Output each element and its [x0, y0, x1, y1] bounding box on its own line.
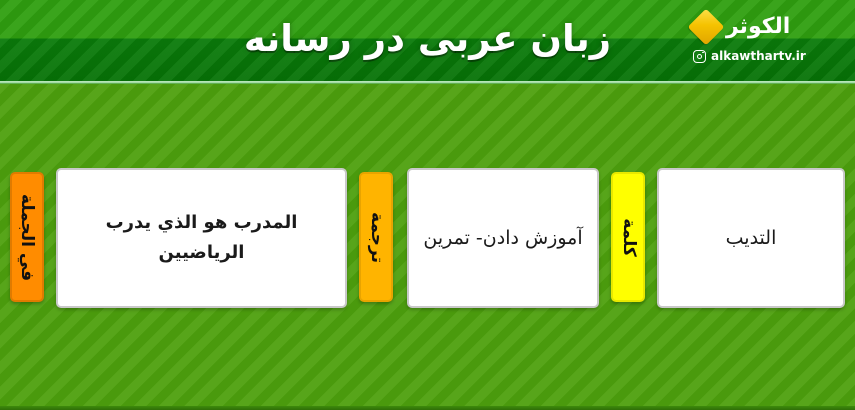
tab-word[interactable]: كلمة — [611, 172, 645, 302]
header-underline — [0, 81, 855, 84]
instagram-icon — [693, 50, 706, 63]
tab-translation-label: ترجمة — [367, 212, 384, 263]
card-group-word: كلمة التديب — [611, 168, 845, 310]
cards-row: كلمة التديب ترجمة آموزش دادن- تمرین في ا… — [0, 168, 855, 310]
card-sentence-text: المدرب هو الذي يدرب الرياضيين — [70, 208, 333, 268]
logo-social-row: alkawthartv.ir — [693, 46, 841, 66]
bottom-rule — [0, 406, 855, 410]
header-bar: زبان عربی در رسانه الکوثر alkawthartv.ir — [0, 0, 855, 84]
tab-sentence-label: في الجملة — [18, 193, 35, 280]
card-word[interactable]: التديب — [657, 168, 845, 308]
tab-translation[interactable]: ترجمة — [359, 172, 393, 302]
card-group-sentence: في الجملة المدرب هو الذي يدرب الرياضيين — [10, 168, 347, 310]
card-translation[interactable]: آموزش دادن- تمرین — [407, 168, 599, 308]
card-group-translation: ترجمة آموزش دادن- تمرین — [359, 168, 599, 310]
social-handle-text: alkawthartv.ir — [711, 49, 806, 63]
diamond-icon — [688, 9, 725, 46]
screenshot-stage: زبان عربی در رسانه الکوثر alkawthartv.ir… — [0, 0, 855, 410]
card-translation-text: آموزش دادن- تمرین — [421, 223, 585, 253]
tab-sentence[interactable]: في الجملة — [10, 172, 44, 302]
card-sentence[interactable]: المدرب هو الذي يدرب الرياضيين — [56, 168, 347, 308]
logo-wordmark-text: الکوثر — [726, 12, 790, 42]
channel-logo: الکوثر alkawthartv.ir — [693, 12, 841, 72]
tab-word-label: كلمة — [619, 218, 636, 257]
logo-wordmark-row: الکوثر — [693, 12, 841, 42]
card-word-text: التديب — [671, 223, 831, 253]
